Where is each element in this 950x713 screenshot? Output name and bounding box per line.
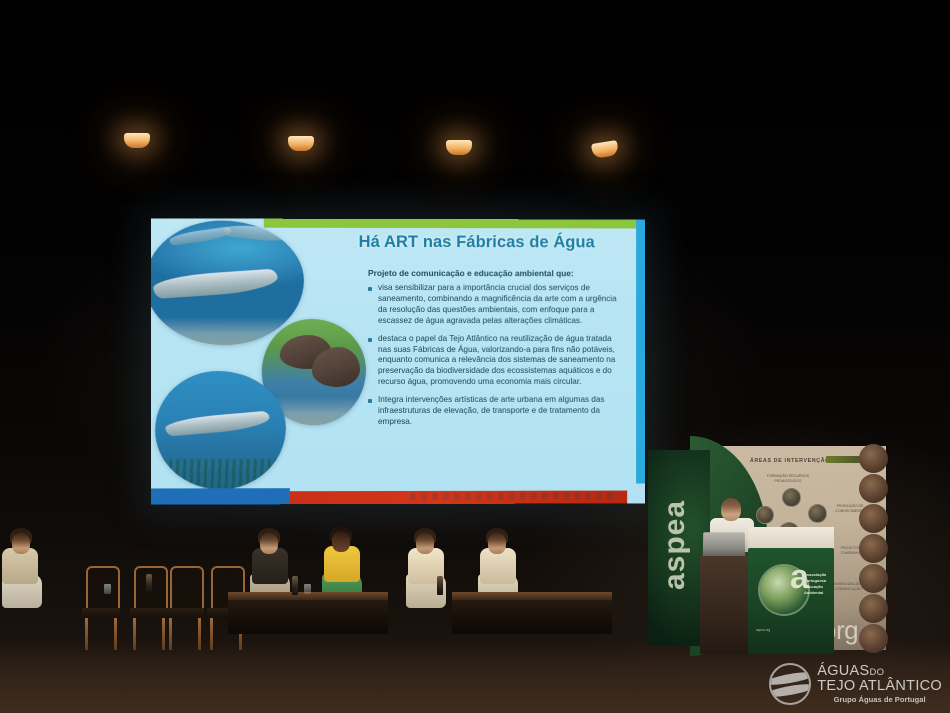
panelist-head: [488, 533, 506, 554]
water-glass-2: [304, 584, 311, 594]
list-item: destaca o papel da Tejo Atlântico na reu…: [368, 334, 619, 389]
empty-chair-3: [166, 566, 204, 644]
slide-lead-text: Projeto de comunicação e educação ambien…: [368, 268, 617, 278]
slide-accent-bottom-blue: [151, 488, 290, 504]
banner-heading: ÁREAS DE INTERVENÇÃO: [750, 458, 830, 464]
fish-circle-top-icon: [151, 220, 304, 345]
banner-photo-column: [856, 442, 888, 652]
podium-logo-words: Associação Portuguesa Educação Ambiental: [804, 572, 830, 596]
banner-photo-3: [859, 504, 888, 533]
banner-photo-7: [859, 624, 888, 653]
slide-accent-right: [636, 220, 645, 484]
slide-title: Há ART nas Fábricas de Água: [322, 233, 631, 253]
water-bottle-3: [437, 576, 443, 595]
slide-bullet-list: visa sensibilizar para a importância cru…: [368, 283, 619, 435]
water-bottle-2: [292, 576, 298, 595]
list-item: visa sensibilizar para a importância cru…: [368, 283, 619, 327]
banner-photo-2: [859, 474, 888, 503]
empty-chair-1: [82, 566, 120, 644]
watermark-main-word: ÁGUAS: [817, 663, 869, 679]
panelist-head: [332, 531, 350, 552]
watermark-line-1: ÁGUASDO: [817, 664, 942, 679]
watermark-line-2: TEJO ATLÂNTICO: [817, 679, 942, 694]
auditorium-photo: Há ART nas Fábricas de Água Projeto de c…: [0, 0, 950, 713]
panelist-head: [260, 533, 278, 554]
slide-bullet-3: Integra intervenções artísticas de arte …: [378, 395, 619, 428]
watermark-do-word: DO: [869, 667, 884, 678]
banner-photo-6: [859, 594, 888, 623]
slide-footer-logos: [410, 493, 619, 500]
panel-table-right: [452, 592, 612, 634]
ceiling-light-2: [288, 136, 314, 151]
slide-bullet-1: visa sensibilizar para a importância cru…: [378, 283, 619, 327]
slide-accent-top: [264, 219, 637, 229]
banner-photo-4: [859, 534, 888, 563]
podium-laptop: [703, 532, 745, 558]
panel-table-left: [228, 592, 388, 634]
watermark: ÁGUASDO TEJO ATLÂNTICO Grupo Águas de Po…: [769, 663, 942, 705]
banner-photo-1: [859, 444, 888, 473]
speaker-head: [721, 498, 741, 521]
bullet-dot-icon: [368, 338, 372, 342]
banner-aspea-wordmark: aspea: [658, 470, 692, 620]
podium-left-column: [700, 556, 750, 654]
projection-screen: Há ART nas Fábricas de Água Projeto de c…: [152, 219, 646, 504]
bullet-dot-icon: [368, 399, 372, 403]
list-item: Integra intervenções artísticas de arte …: [368, 395, 619, 428]
fish-circle-bottom-icon: [155, 371, 286, 489]
watermark-text: ÁGUASDO TEJO ATLÂNTICO Grupo Águas de Po…: [817, 664, 942, 704]
water-bottle-1: [146, 574, 152, 593]
seal-icon-2: [782, 488, 801, 507]
watermark-line-3: Grupo Águas de Portugal: [817, 696, 942, 704]
bullet-dot-icon: [368, 287, 372, 291]
projected-slide: Há ART nas Fábricas de Água Projeto de c…: [151, 218, 645, 504]
slide-illustrations: [151, 218, 360, 492]
seal-icon-4: [808, 504, 827, 523]
banner-side-label-1: FORMAÇÃO RECURSOS PEDAGÓGICOS: [766, 474, 810, 484]
slide-bullet-2: destaca o papel da Tejo Atlântico na reu…: [378, 334, 619, 389]
panelist-head: [12, 533, 30, 554]
water-wave-logo-icon: [769, 663, 811, 705]
ceiling-light-3: [446, 140, 472, 155]
water-glass-1: [104, 584, 111, 594]
seal-icon-1: [756, 506, 774, 524]
panelist-head: [416, 533, 434, 554]
ceiling-light-1: [124, 133, 150, 148]
banner-photo-5: [859, 564, 888, 593]
podium-fine-print: aspea.org: [756, 628, 796, 632]
